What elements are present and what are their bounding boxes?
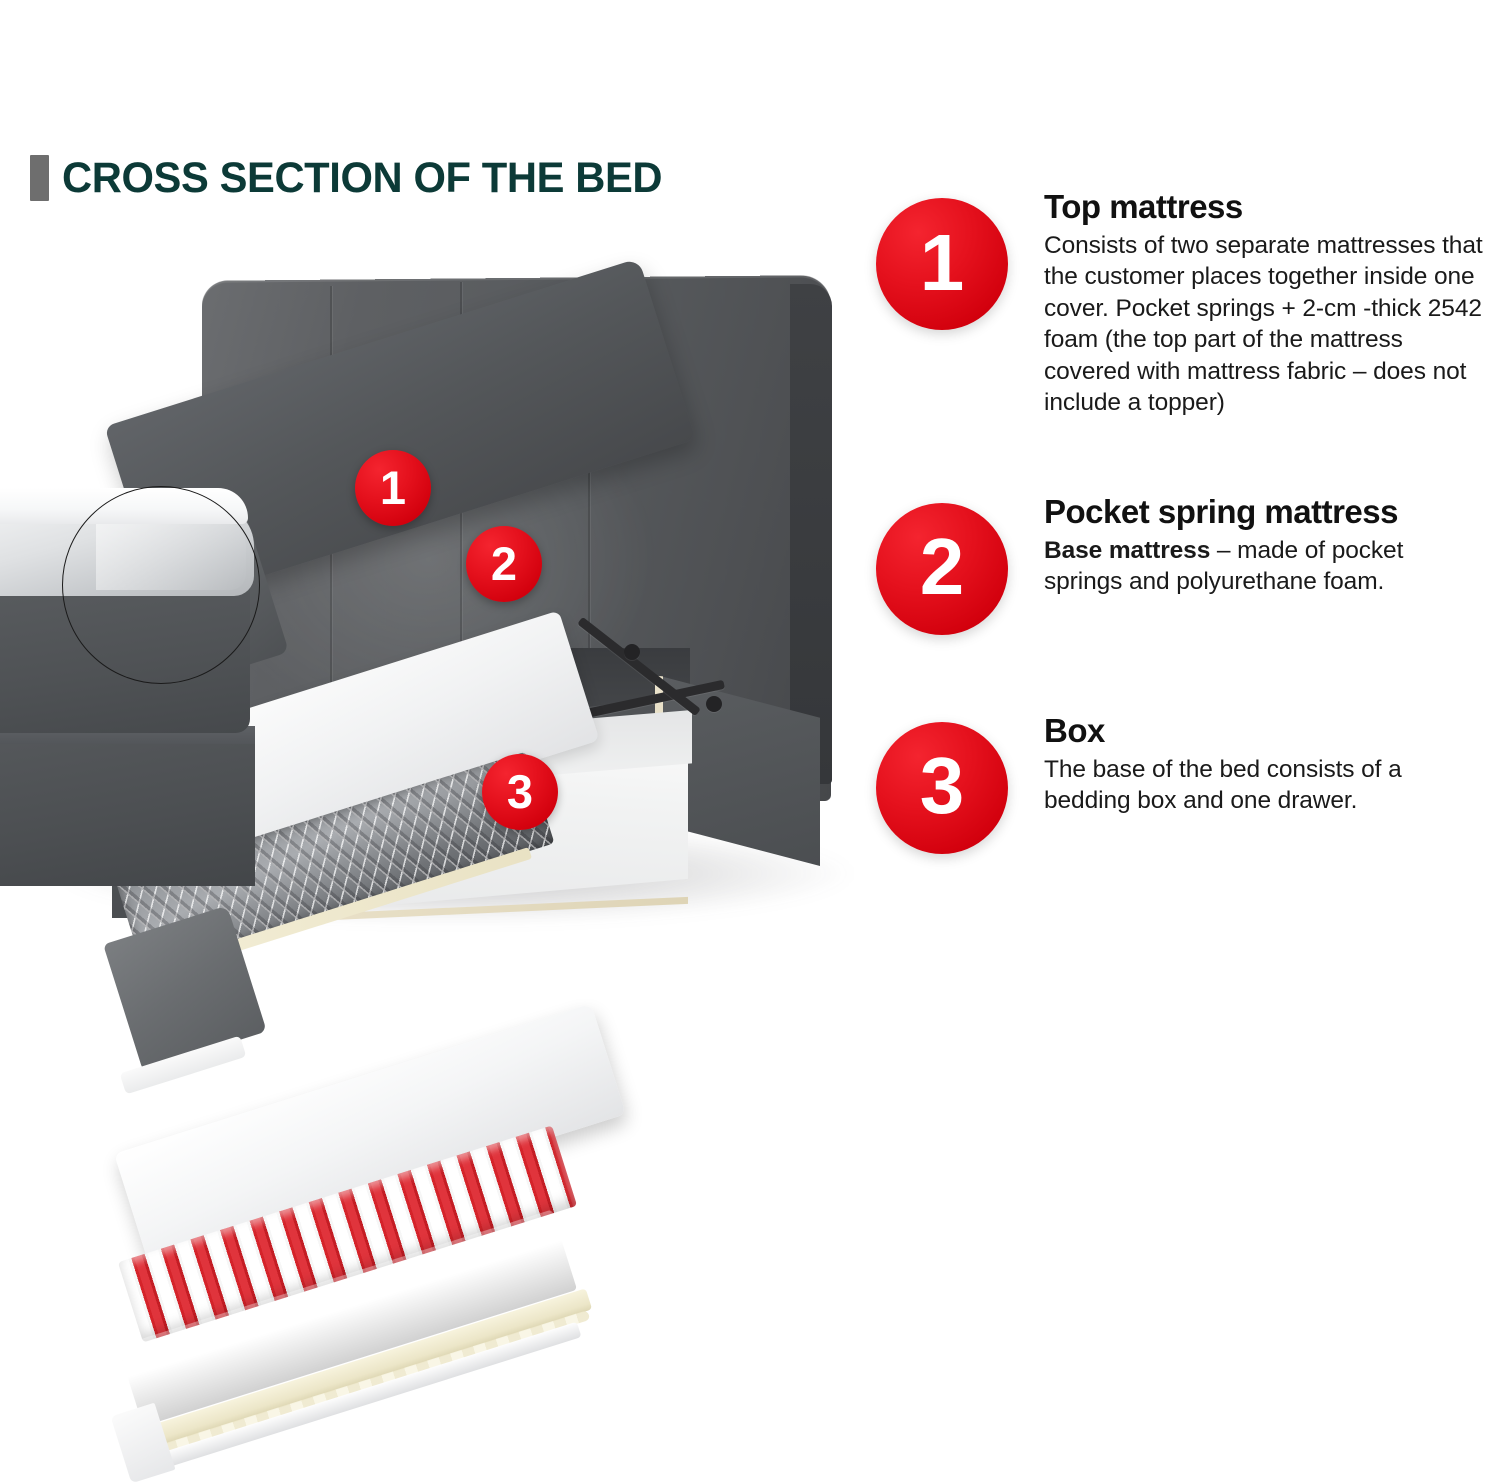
marker-number: 3 xyxy=(482,754,558,830)
legend-marker-1[interactable]: 1 xyxy=(876,198,1008,330)
legend-text-3: The base of the bed consists of a beddin… xyxy=(1044,754,1486,817)
legend-body-2: Pocket spring mattress Base mattress – m… xyxy=(1044,495,1486,598)
legend-item-1: 1 Top mattress Consists of two separate … xyxy=(876,190,1486,419)
marker-number: 3 xyxy=(876,722,1008,854)
legend-list: 1 Top mattress Consists of two separate … xyxy=(876,190,1486,861)
bed-cross-section-illustration: 1 2 3 xyxy=(0,258,860,938)
marker-number: 1 xyxy=(876,198,1008,330)
legend-heading-3: Box xyxy=(1044,714,1486,749)
legend-heading-1: Top mattress xyxy=(1044,190,1486,225)
legend-body-3: Box The base of the bed consists of a be… xyxy=(1044,714,1486,817)
page-title: CROSS SECTION OF THE BED xyxy=(62,157,662,200)
title-accent-bar xyxy=(30,155,49,201)
legend-item-2: 2 Pocket spring mattress Base mattress –… xyxy=(876,495,1486,598)
illustration-marker-2[interactable]: 2 xyxy=(466,526,542,602)
legend-body-1: Top mattress Consists of two separate ma… xyxy=(1044,190,1486,419)
legend-text-2: Base mattress – made of pocket springs a… xyxy=(1044,535,1486,598)
marker-number: 2 xyxy=(466,526,542,602)
legend-item-3: 3 Box The base of the bed consists of a … xyxy=(876,714,1486,817)
page-title-row: CROSS SECTION OF THE BED xyxy=(30,155,681,201)
legend-marker-3[interactable]: 3 xyxy=(876,722,1008,854)
infographic-canvas: CROSS SECTION OF THE BED xyxy=(0,0,1500,1125)
legend-text-1: Consists of two separate mattresses that… xyxy=(1044,230,1486,419)
legend-heading-2: Pocket spring mattress xyxy=(1044,495,1486,530)
highlight-circle-annotation xyxy=(62,486,260,684)
legend-text-2-lead: Base mattress xyxy=(1044,537,1210,564)
legend-marker-2[interactable]: 2 xyxy=(876,503,1008,635)
marker-number: 1 xyxy=(355,450,431,526)
illustration-marker-3[interactable]: 3 xyxy=(482,754,558,830)
left-bed-base xyxy=(0,736,255,886)
marker-number: 2 xyxy=(876,503,1008,635)
illustration-marker-1[interactable]: 1 xyxy=(355,450,431,526)
